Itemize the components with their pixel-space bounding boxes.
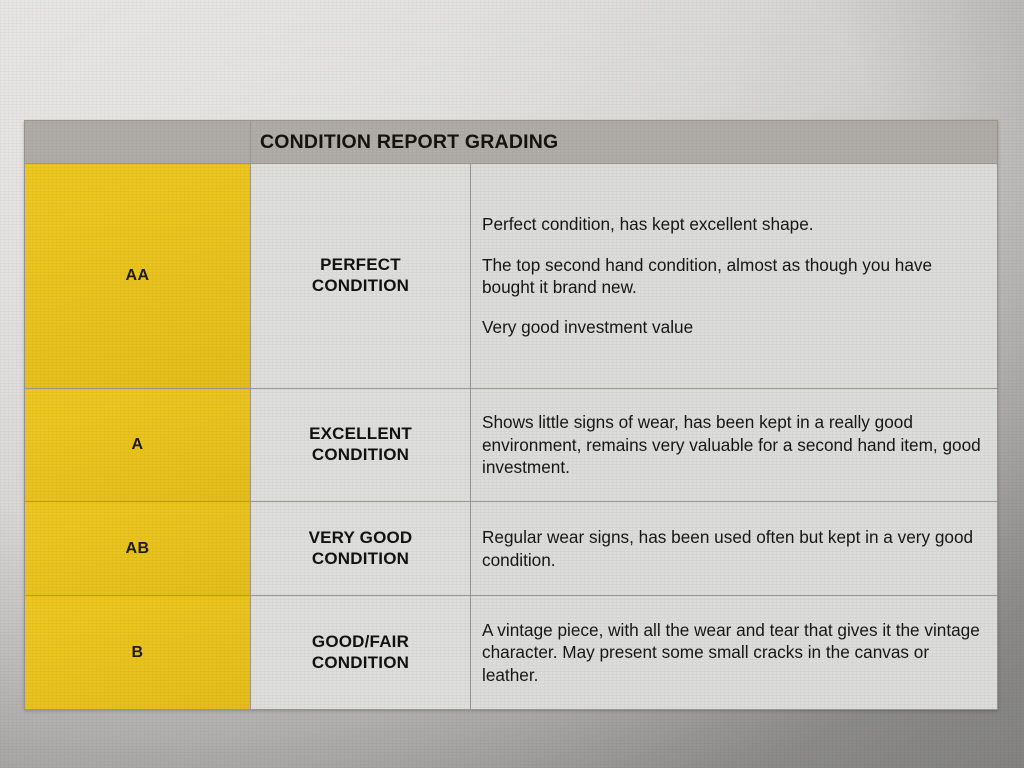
- page-title: CONDITION REPORT GRADING: [251, 121, 998, 164]
- table-row: B GOOD/FAIR CONDITION A vintage piece, w…: [25, 596, 998, 710]
- description-b: A vintage piece, with all the wear and t…: [471, 596, 998, 710]
- description-a: Shows little signs of wear, has been kep…: [471, 389, 998, 502]
- condition-name-line1: VERY GOOD: [309, 528, 413, 547]
- condition-name-line2: CONDITION: [312, 445, 409, 464]
- description-paragraph: Shows little signs of wear, has been kep…: [482, 411, 985, 478]
- grade-label-b: B: [25, 596, 251, 710]
- condition-name-ab: VERY GOOD CONDITION: [251, 502, 471, 596]
- grade-label-aa: AA: [25, 164, 251, 389]
- condition-name-line2: CONDITION: [312, 549, 409, 568]
- table-row: AA PERFECT CONDITION Perfect condition, …: [25, 164, 998, 389]
- table-row: A EXCELLENT CONDITION Shows little signs…: [25, 389, 998, 502]
- description-paragraph: Perfect condition, has kept excellent sh…: [482, 213, 985, 235]
- condition-name-line2: CONDITION: [312, 276, 409, 295]
- description-paragraph: Very good investment value: [482, 316, 985, 338]
- header-blank-cell: [25, 121, 251, 164]
- condition-report-grading-table: CONDITION REPORT GRADING AA PERFECT COND…: [24, 120, 998, 710]
- description-paragraph: A vintage piece, with all the wear and t…: [482, 619, 985, 686]
- table-row: AB VERY GOOD CONDITION Regular wear sign…: [25, 502, 998, 596]
- condition-name-line1: PERFECT: [320, 255, 401, 274]
- condition-name-line2: CONDITION: [312, 653, 409, 672]
- description-paragraph: Regular wear signs, has been used often …: [482, 526, 985, 571]
- condition-name-b: GOOD/FAIR CONDITION: [251, 596, 471, 710]
- condition-name-a: EXCELLENT CONDITION: [251, 389, 471, 502]
- condition-name-aa: PERFECT CONDITION: [251, 164, 471, 389]
- grade-label-ab: AB: [25, 502, 251, 596]
- grade-label-a: A: [25, 389, 251, 502]
- condition-name-line1: GOOD/FAIR: [312, 632, 409, 651]
- table-header-row: CONDITION REPORT GRADING: [25, 121, 998, 164]
- description-aa: Perfect condition, has kept excellent sh…: [471, 164, 998, 389]
- description-ab: Regular wear signs, has been used often …: [471, 502, 998, 596]
- description-paragraph: The top second hand condition, almost as…: [482, 254, 985, 299]
- condition-name-line1: EXCELLENT: [309, 424, 412, 443]
